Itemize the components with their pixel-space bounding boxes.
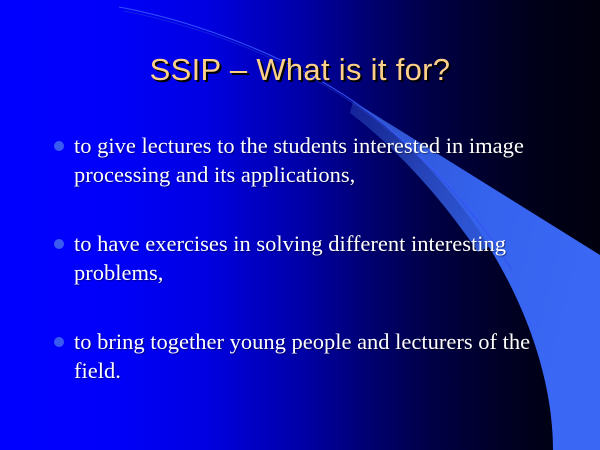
bullet-dot-icon — [54, 239, 64, 249]
list-item: to have exercises in solving different i… — [53, 229, 573, 287]
list-item-label: to bring together young people and lectu… — [74, 327, 573, 385]
list-item: to give lectures to the students interes… — [53, 131, 573, 189]
slide-title-block: SSIP – What is it for? — [0, 52, 600, 88]
list-item-label: to give lectures to the students interes… — [74, 131, 573, 189]
page-title: SSIP – What is it for? — [150, 52, 451, 88]
slide-body-content: to give lectures to the students interes… — [53, 131, 573, 385]
bullet-dot-icon — [54, 141, 64, 151]
list-item: to bring together young people and lectu… — [53, 327, 573, 385]
bullet-dot-icon — [54, 337, 64, 347]
presentation-slide: SSIP – What is it for? to give lectures … — [0, 0, 600, 450]
list-item-label: to have exercises in solving different i… — [74, 229, 573, 287]
